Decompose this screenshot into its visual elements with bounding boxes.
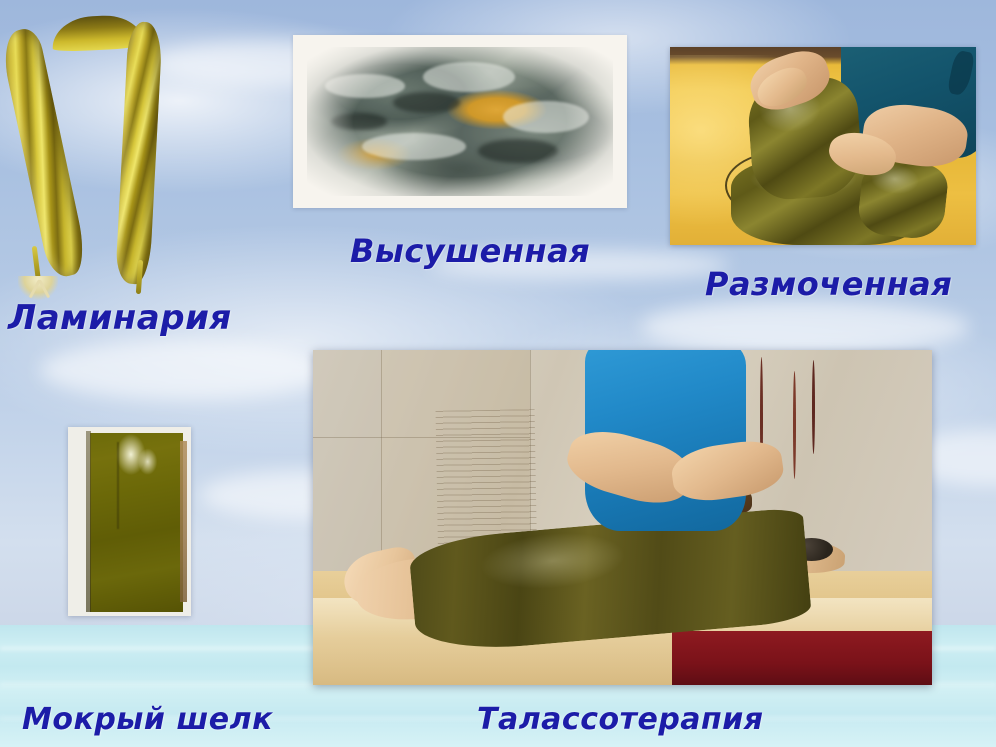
dried-strand (325, 74, 405, 98)
image-thalassotherapy[interactable] (313, 350, 932, 685)
silk-crease (117, 442, 119, 529)
cloud-wisp-icon (640, 300, 970, 354)
silk-left-edge (86, 431, 91, 612)
image-wet-silk[interactable] (68, 427, 191, 616)
dried-shadow (478, 139, 558, 163)
dried-strand (423, 62, 515, 92)
scrubs-fold (947, 50, 975, 97)
label-laminaria: Ламинария (8, 298, 232, 338)
label-soaked: Размоченная (705, 265, 952, 303)
dried-strand (362, 133, 466, 160)
label-dried: Высушенная (350, 232, 590, 270)
dried-shadow (393, 92, 460, 113)
dried-shadow (331, 113, 386, 131)
cloud-wisp-icon (40, 340, 330, 400)
silk-right-edge (180, 441, 187, 602)
label-thalassotherapy: Талассотерапия (477, 702, 764, 737)
wet-silk-sheet (90, 433, 183, 612)
image-dried-kelp[interactable] (293, 35, 627, 208)
branch (812, 360, 815, 454)
kelp-frond-right (115, 21, 163, 286)
label-wet-silk: Мокрый шелк (22, 702, 273, 737)
dried-strand (503, 101, 589, 134)
bed-skirt (672, 631, 932, 685)
slide-canvas: Ламинария Высушенная Размоченная Мокрый … (0, 0, 996, 747)
image-soaked-kelp[interactable] (670, 47, 976, 245)
dried-kelp-content (307, 47, 613, 196)
branch (793, 371, 796, 479)
kelp-frond-left (0, 25, 89, 281)
image-laminaria-plant (0, 10, 260, 300)
